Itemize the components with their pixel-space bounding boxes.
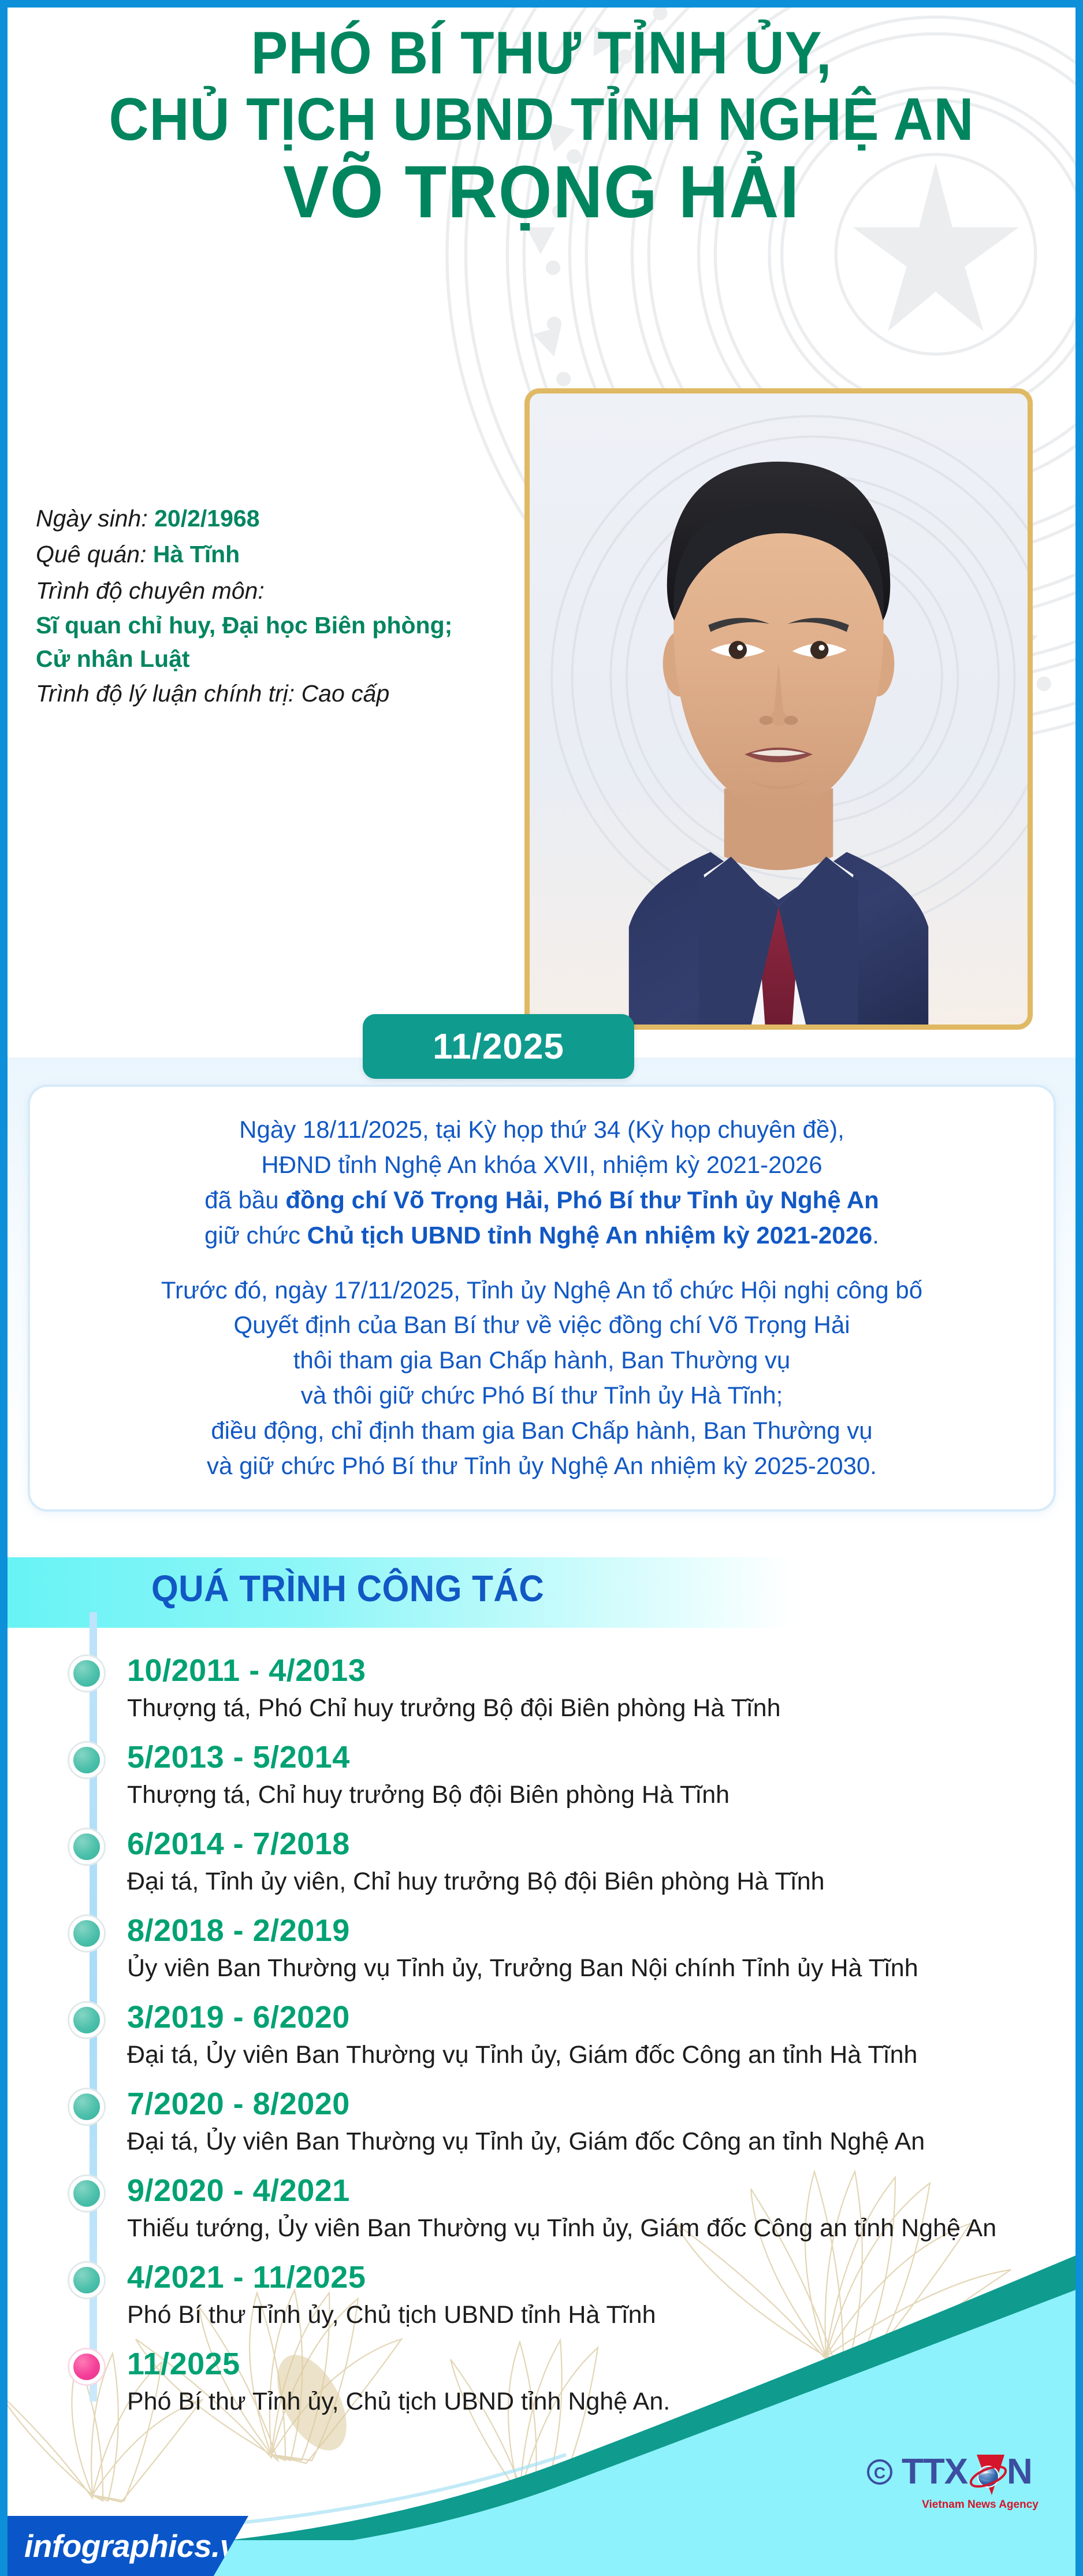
date-badge-label: 11/2025 — [433, 1026, 564, 1067]
bio-hometown-label: Quê quán: — [36, 541, 153, 567]
info-p1-line4-tail: . — [872, 1222, 879, 1249]
frame-edge-right — [1075, 0, 1083, 2576]
svg-text:C: C — [874, 2464, 885, 2482]
timeline-item: 9/2020 - 4/2021 Thiếu tướng, Ủy viên Ban… — [69, 2174, 1051, 2245]
bio-education-label: Trình độ chuyên môn: — [36, 573, 521, 608]
ttxvn-agency-name: Vietnam News Agency — [922, 2499, 1039, 2511]
info-p1-line3-bold: đồng chí Võ Trọng Hải, Phó Bí thư Tỉnh ủ… — [285, 1186, 879, 1213]
info-p1-line2: HĐND tỉnh Nghệ An khóa XVII, nhiệm kỳ 20… — [261, 1151, 822, 1178]
timeline-desc: Đại tá, Ủy viên Ban Thường vụ Tỉnh ủy, G… — [127, 2039, 1051, 2072]
info-p2-line2: Quyết định của Ban Bí thư về việc đồng c… — [233, 1311, 850, 1338]
frame-edge-top — [0, 0, 1083, 8]
timeline-range: 5/2013 - 5/2014 — [127, 1740, 1051, 1774]
person-name: VÕ TRỌNG HẢI — [38, 154, 1045, 231]
timeline-desc: Đại tá, Ủy viên Ban Thường vụ Tỉnh ủy, G… — [127, 2126, 1051, 2158]
info-p2-line3: thôi tham gia Ban Chấp hành, Ban Thường … — [293, 1346, 790, 1374]
infographics-site-label: infographics.vn — [24, 2527, 256, 2564]
career-section-title: QUÁ TRÌNH CÔNG TÁC — [151, 1567, 544, 1610]
timeline-desc: Phó Bí thư Tỉnh ủy, Chủ tịch UBND tỉnh N… — [127, 2386, 1051, 2418]
info-p1-line1: Ngày 18/11/2025, tại Kỳ họp thứ 34 (Kỳ h… — [239, 1116, 844, 1143]
svg-text:N: N — [1007, 2452, 1032, 2492]
info-p1-line4-bold: Chủ tịch UBND tỉnh Nghệ An nhiệm kỳ 2021… — [307, 1222, 873, 1249]
timeline-dot-icon — [69, 1656, 104, 1691]
timeline-desc: Phó Bí thư Tỉnh ủy, Chủ tịch UBND tỉnh H… — [127, 2299, 1051, 2332]
timeline-range: 4/2021 - 11/2025 — [127, 2261, 1051, 2294]
timeline-dot-icon — [69, 1916, 104, 1951]
timeline-desc: Thượng tá, Phó Chỉ huy trưởng Bộ đội Biê… — [127, 1692, 1051, 1725]
info-card: Ngày 18/11/2025, tại Kỳ họp thứ 34 (Kỳ h… — [28, 1085, 1056, 1512]
bio-education-value-2: Cử nhân Luật — [36, 642, 521, 675]
info-paragraph-2: Trước đó, ngày 17/11/2025, Tỉnh ủy Nghệ … — [64, 1273, 1020, 1484]
timeline-range: 9/2020 - 4/2021 — [127, 2174, 1051, 2207]
timeline-range: 3/2019 - 6/2020 — [127, 2000, 1051, 2034]
timeline-item: 11/2025 Phó Bí thư Tỉnh ủy, Chủ tịch UBN… — [69, 2347, 1051, 2418]
bio-hometown-value: Hà Tĩnh — [153, 541, 240, 567]
timeline-range: 8/2018 - 2/2019 — [127, 1914, 1051, 1947]
timeline-item: 5/2013 - 5/2014 Thượng tá, Chỉ huy trưởn… — [69, 1740, 1051, 1812]
bio-dob-label: Ngày sinh: — [36, 505, 154, 532]
info-p2-line1: Trước đó, ngày 17/11/2025, Tỉnh ủy Nghệ … — [161, 1276, 922, 1304]
timeline-item: 4/2021 - 11/2025 Phó Bí thư Tỉnh ủy, Chủ… — [69, 2261, 1051, 2332]
info-paragraph-1: Ngày 18/11/2025, tại Kỳ họp thứ 34 (Kỳ h… — [64, 1112, 1020, 1253]
timeline-desc: Thiếu tướng, Ủy viên Ban Thường vụ Tỉnh … — [127, 2213, 1051, 2245]
timeline-desc: Ủy viên Ban Thường vụ Tỉnh ủy, Trưởng Ba… — [127, 1953, 1051, 1985]
page-title-line1: PHÓ BÍ THƯ TỈNH ỦY, — [43, 22, 1040, 85]
copyright-icon: C — [868, 2460, 891, 2484]
timeline-dot-current-icon — [69, 2349, 104, 2384]
bio-dob-value: 20/2/1968 — [154, 505, 259, 532]
timeline-desc: Thượng tá, Chỉ huy trưởng Bộ đội Biên ph… — [127, 1779, 1051, 1812]
infographics-ribbon[interactable]: infographics.vn — [0, 2516, 248, 2576]
bio-hometown-row: Quê quán: Hà Tĩnh — [36, 536, 521, 572]
timeline-range: 10/2011 - 4/2013 — [127, 1654, 1051, 1687]
info-p2-line6: và giữ chức Phó Bí thư Tỉnh ủy Nghệ An n… — [207, 1452, 877, 1479]
timeline-dot-icon — [69, 2263, 104, 2297]
info-p1-line3-plain: đã bầu — [204, 1186, 285, 1213]
info-p2-line5: điều động, chỉ định tham gia Ban Chấp hà… — [211, 1417, 872, 1444]
timeline-range: 6/2014 - 7/2018 — [127, 1827, 1051, 1861]
timeline-item: 10/2011 - 4/2013 Thượng tá, Phó Chỉ huy … — [69, 1654, 1051, 1725]
info-p1-line4-plain: giữ chức — [204, 1222, 307, 1249]
frame-edge-left — [0, 0, 8, 2576]
timeline-dot-icon — [69, 1743, 104, 1777]
svg-text:TTX: TTX — [902, 2452, 968, 2492]
bio-politics-row: Trình độ lý luận chính trị: Cao cấp — [36, 675, 521, 711]
portrait-frame — [524, 388, 1033, 1030]
page-title-line2: CHỦ TỊCH UBND TỈNH NGHỆ AN — [43, 88, 1040, 151]
header: PHÓ BÍ THƯ TỈNH ỦY, CHỦ TỊCH UBND TỈNH N… — [0, 22, 1083, 232]
timeline-item: 6/2014 - 7/2018 Đại tá, Tỉnh ủy viên, Ch… — [69, 1827, 1051, 1898]
timeline-range: 11/2025 — [127, 2347, 1051, 2381]
timeline-dot-icon — [69, 2003, 104, 2037]
infographic-page: PHÓ BÍ THƯ TỈNH ỦY, CHỦ TỊCH UBND TỈNH N… — [0, 0, 1083, 2576]
portrait-photo — [530, 394, 1028, 1025]
date-badge: 11/2025 — [363, 1014, 634, 1079]
bio-dob-row: Ngày sinh: 20/2/1968 — [36, 500, 521, 536]
timeline-item: 8/2018 - 2/2019 Ủy viên Ban Thường vụ Tỉ… — [69, 1914, 1051, 1985]
timeline-item: 7/2020 - 8/2020 Đại tá, Ủy viên Ban Thườ… — [69, 2087, 1051, 2158]
bio-block: Ngày sinh: 20/2/1968 Quê quán: Hà Tĩnh T… — [36, 500, 521, 712]
timeline-desc: Đại tá, Tỉnh ủy viên, Chỉ huy trưởng Bộ … — [127, 1866, 1051, 1898]
timeline-dot-icon — [69, 2176, 104, 2211]
timeline-range: 7/2020 - 8/2020 — [127, 2087, 1051, 2121]
bio-education-value-1: Sĩ quan chỉ huy, Đại học Biên phòng; — [36, 608, 521, 642]
ttxvn-logo: C TTX N Vietnam News Agency — [864, 2444, 1067, 2515]
timeline-item: 3/2019 - 6/2020 Đại tá, Ủy viên Ban Thườ… — [69, 2000, 1051, 2072]
timeline-dot-icon — [69, 2089, 104, 2124]
timeline-dot-icon — [69, 1829, 104, 1864]
info-p2-line4: và thôi giữ chức Phó Bí thư Tỉnh ủy Hà T… — [301, 1382, 783, 1409]
